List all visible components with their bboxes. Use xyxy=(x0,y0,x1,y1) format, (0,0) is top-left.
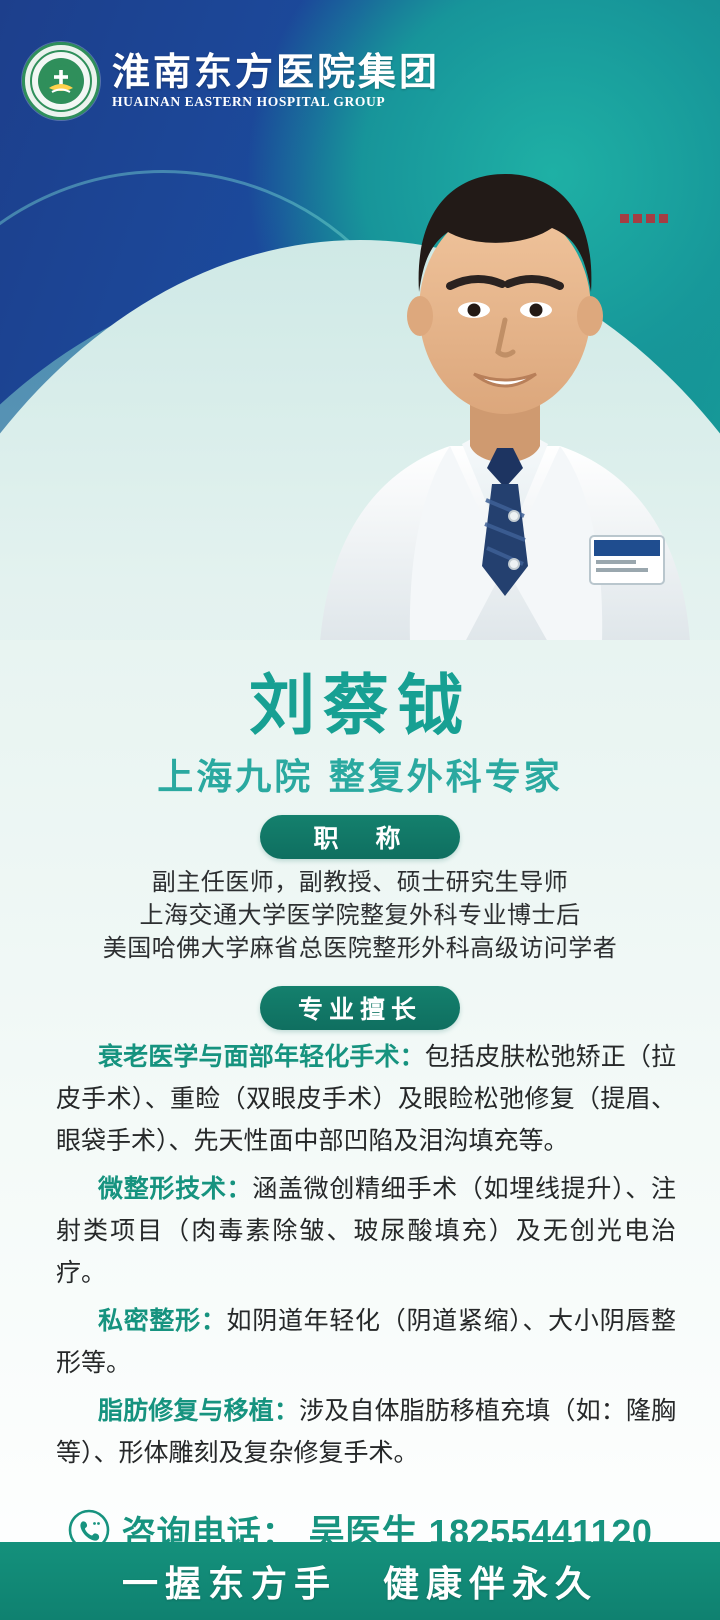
brand-name-cn: 淮南东方医院集团 xyxy=(112,52,440,92)
footer-slogan-left: 一握东方手 xyxy=(122,1555,337,1607)
brand-name-en: HUAINAN EASTERN HOSPITAL GROUP xyxy=(112,94,440,110)
specialty-keyword: 私密整形： xyxy=(98,1306,227,1335)
doctor-name: 刘蔡钺 xyxy=(0,652,720,748)
credential-line: 美国哈佛大学麻省总医院整形外科高级访问学者 xyxy=(0,932,720,965)
specialty-item: 私密整形：如阴道年轻化（阴道紧缩）、大小阴唇整形等。 xyxy=(56,1300,676,1384)
credential-line: 副主任医师，副教授、硕士研究生导师 xyxy=(0,866,720,899)
specialty-item: 微整形技术：涵盖微创精细手术（如埋线提升）、注射类项目（肉毒素除皱、玻尿酸填充）… xyxy=(56,1168,676,1294)
specialty-item: 脂肪修复与移植：涉及自体脂肪移植充填（如：隆胸等）、形体雕刻及复杂修复手术。 xyxy=(56,1390,676,1474)
hero-banner: 淮南东方医院集团 HUAINAN EASTERN HOSPITAL GROUP xyxy=(0,0,720,640)
credential-line: 上海交通大学医学院整复外科专业博士后 xyxy=(0,899,720,932)
footer-slogan-bar: 一握东方手 健康伴永久 xyxy=(0,1542,720,1620)
section-badge-specialty: 专业擅长 xyxy=(260,986,460,1030)
specialty-keyword: 微整形技术： xyxy=(98,1174,252,1203)
doctor-portrait xyxy=(290,96,720,640)
specialty-item: 衰老医学与面部年轻化手术：包括皮肤松弛矫正（拉皮手术）、重睑（双眼皮手术）及眼睑… xyxy=(56,1036,676,1162)
specialty-keyword: 脂肪修复与移植： xyxy=(98,1396,299,1425)
section-badge-title: 职 称 xyxy=(260,815,460,859)
poster-root: 淮南东方医院集团 HUAINAN EASTERN HOSPITAL GROUP … xyxy=(0,0,720,1620)
hospital-emblem-icon xyxy=(22,42,100,120)
brand-logo: 淮南东方医院集团 HUAINAN EASTERN HOSPITAL GROUP xyxy=(22,42,440,120)
specialty-keyword: 衰老医学与面部年轻化手术： xyxy=(98,1042,425,1071)
credentials-list: 副主任医师，副教授、硕士研究生导师 上海交通大学医学院整复外科专业博士后 美国哈… xyxy=(0,866,720,965)
footer-slogan-right: 健康伴永久 xyxy=(383,1555,598,1607)
doctor-subtitle: 上海九院 整复外科专家 xyxy=(0,748,720,800)
specialty-list: 衰老医学与面部年轻化手术：包括皮肤松弛矫正（拉皮手术）、重睑（双眼皮手术）及眼睑… xyxy=(56,1036,676,1480)
